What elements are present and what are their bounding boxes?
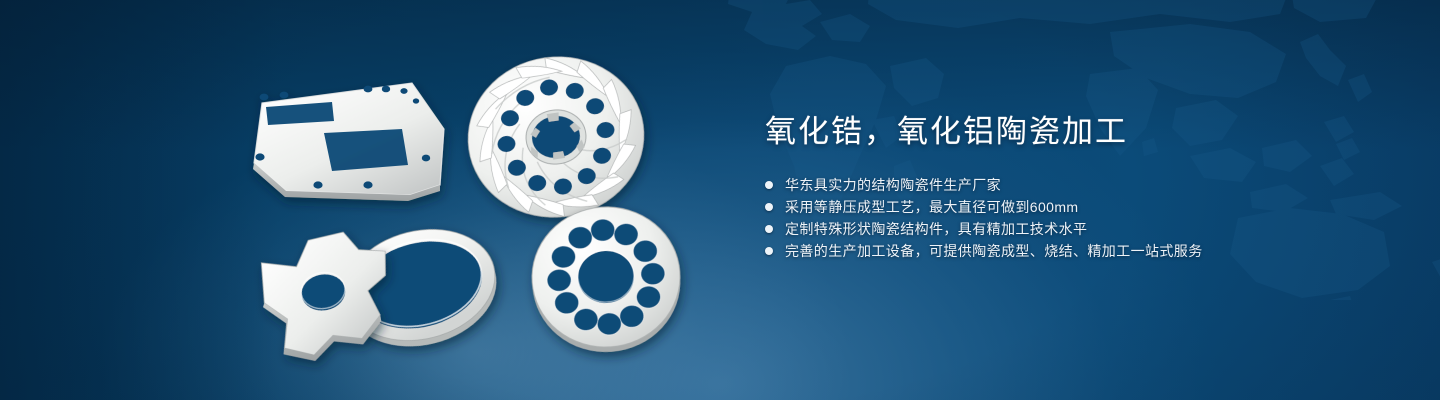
bullet-dot-icon bbox=[765, 203, 773, 211]
feature-item-2: 采用等静压成型工艺，最大直径可做到600mm bbox=[765, 196, 1385, 218]
bullet-dot-icon bbox=[765, 181, 773, 189]
bullet-dot-icon bbox=[765, 225, 773, 233]
banner-headline: 氧化锆，氧化铝陶瓷加工 bbox=[765, 112, 1385, 152]
banner-text-block: 氧化锆，氧化铝陶瓷加工 华东具实力的结构陶瓷件生产厂家 采用等静压成型工艺，最大… bbox=[765, 112, 1385, 262]
ceramic-disc-part bbox=[527, 202, 685, 357]
feature-text-4: 完善的生产加工设备，可提供陶瓷成型、烧结、精加工一站式服务 bbox=[785, 240, 1203, 262]
feature-item-1: 华东具实力的结构陶瓷件生产厂家 bbox=[765, 174, 1385, 196]
feature-item-3: 定制特殊形状陶瓷结构件，具有精加工技术水平 bbox=[765, 218, 1385, 240]
bullet-dot-icon bbox=[765, 247, 773, 255]
ceramic-impeller-part bbox=[457, 45, 656, 237]
hero-banner: 氧化锆，氧化铝陶瓷加工 华东具实力的结构陶瓷件生产厂家 采用等静压成型工艺，最大… bbox=[0, 0, 1440, 400]
ceramic-plate-part bbox=[253, 83, 444, 201]
feature-text-1: 华东具实力的结构陶瓷件生产厂家 bbox=[785, 174, 1001, 196]
feature-text-3: 定制特殊形状陶瓷结构件，具有精加工技术水平 bbox=[785, 218, 1087, 240]
ceramic-products-group bbox=[240, 45, 710, 380]
feature-text-2: 采用等静压成型工艺，最大直径可做到600mm bbox=[785, 196, 1078, 218]
feature-item-4: 完善的生产加工设备，可提供陶瓷成型、烧结、精加工一站式服务 bbox=[765, 240, 1385, 262]
banner-feature-list: 华东具实力的结构陶瓷件生产厂家 采用等静压成型工艺，最大直径可做到600mm 定… bbox=[765, 174, 1385, 262]
